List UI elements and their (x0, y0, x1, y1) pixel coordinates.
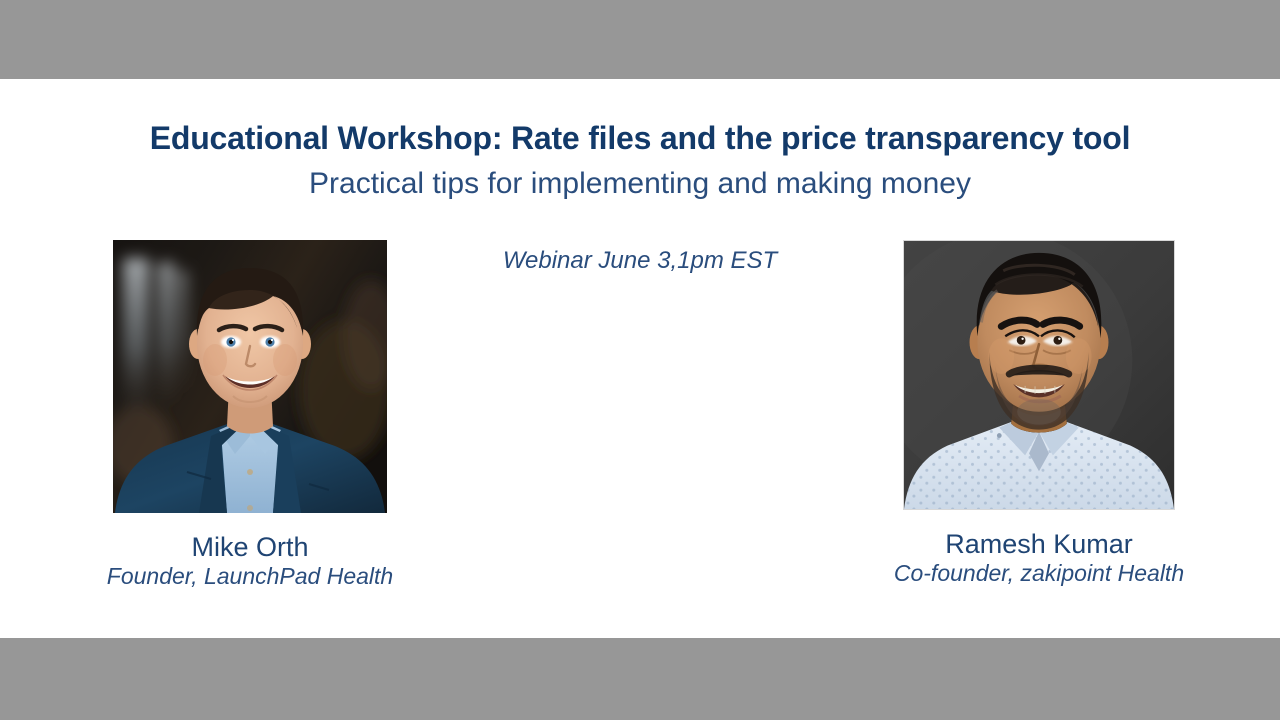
page-subtitle: Practical tips for implementing and maki… (0, 167, 1280, 201)
slide-content: Educational Workshop: Rate files and the… (0, 79, 1280, 638)
speaker-card-right: Ramesh Kumar Co-founder, zakipoint Healt… (824, 240, 1254, 585)
avatar (113, 240, 387, 513)
speaker-card-left: Mike Orth Founder, LaunchPad Health (35, 240, 465, 588)
headshot-mike-orth-image (113, 240, 387, 513)
speaker-name: Mike Orth (35, 533, 465, 561)
letterbox-bar-top (0, 0, 1280, 79)
speaker-role: Founder, LaunchPad Health (35, 564, 465, 588)
page-title: Educational Workshop: Rate files and the… (0, 120, 1280, 157)
webinar-slide: Educational Workshop: Rate files and the… (0, 0, 1280, 720)
speaker-role: Co-founder, zakipoint Health (824, 561, 1254, 585)
headshot-ramesh-kumar-image (904, 241, 1174, 509)
avatar (903, 240, 1175, 510)
speaker-name: Ramesh Kumar (824, 530, 1254, 558)
letterbox-bar-bottom (0, 638, 1280, 720)
